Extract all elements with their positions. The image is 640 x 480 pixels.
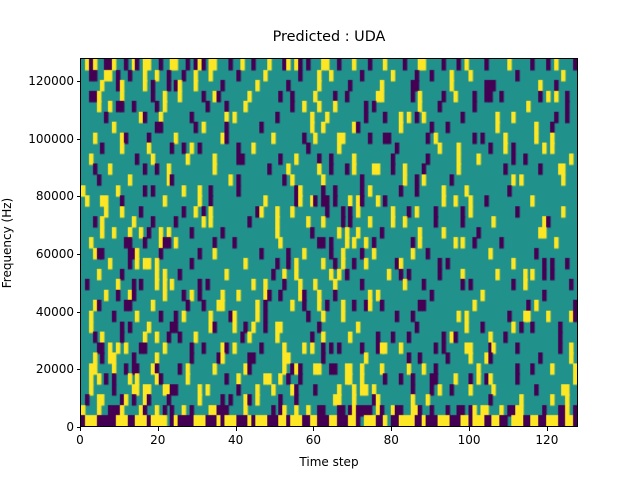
x-tick-label: 20 <box>150 433 165 447</box>
y-tick-mark <box>77 254 81 255</box>
x-axis-label: Time step <box>80 455 578 469</box>
y-tick-mark <box>77 139 81 140</box>
y-tick-label: 0 <box>66 420 74 434</box>
y-tick-mark <box>77 427 81 428</box>
y-tick-label: 80000 <box>36 189 74 203</box>
y-tick-label: 120000 <box>28 74 74 88</box>
x-tick-mark <box>547 427 548 431</box>
x-tick-label: 100 <box>458 433 481 447</box>
y-tick-mark <box>77 312 81 313</box>
y-tick-label: 40000 <box>36 305 74 319</box>
y-tick-label: 60000 <box>36 247 74 261</box>
y-tick-mark <box>77 196 81 197</box>
x-tick-mark <box>391 427 392 431</box>
x-tick-label: 40 <box>228 433 243 447</box>
heatmap-image <box>81 59 577 426</box>
matplotlib-figure: Predicted : UDA 020406080100120020000400… <box>0 0 640 480</box>
x-tick-mark <box>80 427 81 431</box>
x-tick-label: 60 <box>306 433 321 447</box>
x-tick-mark <box>313 427 314 431</box>
x-tick-label: 80 <box>384 433 399 447</box>
y-tick-label: 20000 <box>36 362 74 376</box>
x-tick-label: 120 <box>535 433 558 447</box>
chart-title: Predicted : UDA <box>80 29 578 45</box>
y-tick-mark <box>77 369 81 370</box>
x-tick-mark <box>158 427 159 431</box>
x-tick-mark <box>469 427 470 431</box>
x-tick-label: 0 <box>76 433 84 447</box>
y-axis-label: Frequency (Hz) <box>0 197 14 288</box>
heatmap-axes <box>80 58 578 427</box>
y-tick-mark <box>77 81 81 82</box>
x-tick-mark <box>236 427 237 431</box>
y-tick-label: 100000 <box>28 132 74 146</box>
